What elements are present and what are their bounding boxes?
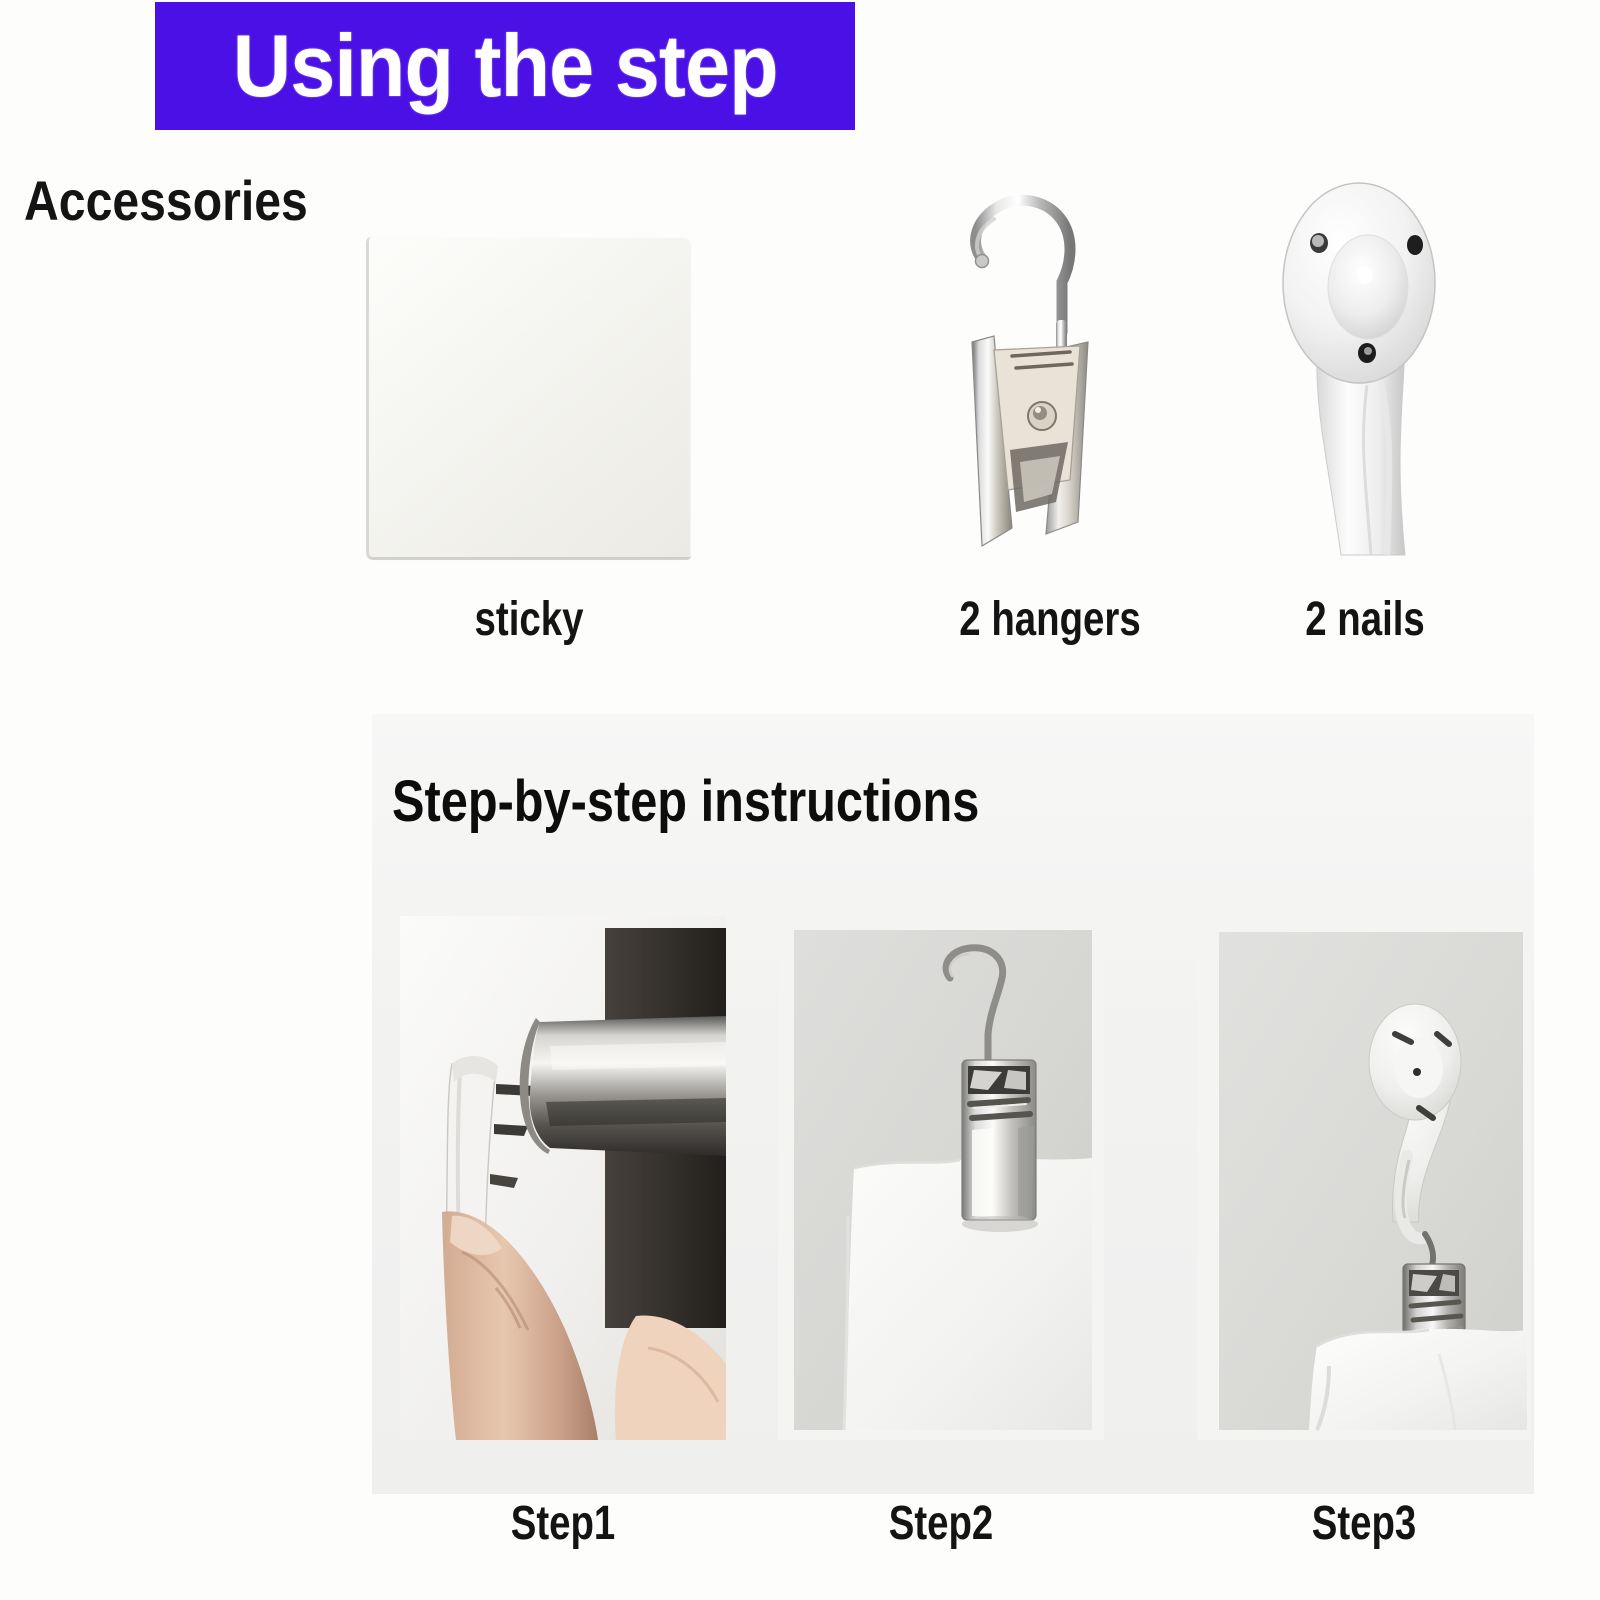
step-label-1: Step1 (433, 1496, 694, 1551)
step-photo-2 (778, 916, 1104, 1440)
step-label-3: Step3 (1230, 1496, 1497, 1551)
instructions-heading: Step-by-step instructions (392, 768, 979, 835)
accessories-heading: Accessories (24, 168, 308, 233)
accessory-label-hangers: 2 hangers (930, 592, 1170, 647)
step-label-2: Step2 (811, 1496, 1072, 1551)
page-title: Using the step (233, 22, 778, 110)
accessory-label-nails: 2 nails (1273, 592, 1457, 647)
step-photo-3 (1197, 916, 1531, 1440)
step-photo-1 (400, 916, 726, 1440)
hook-clip-icon (920, 150, 1140, 560)
title-banner: Using the step (155, 2, 855, 130)
adhesive-pad-icon (368, 238, 690, 558)
accessory-label-sticky: sticky (400, 592, 658, 647)
wall-hook-icon (1255, 155, 1465, 565)
